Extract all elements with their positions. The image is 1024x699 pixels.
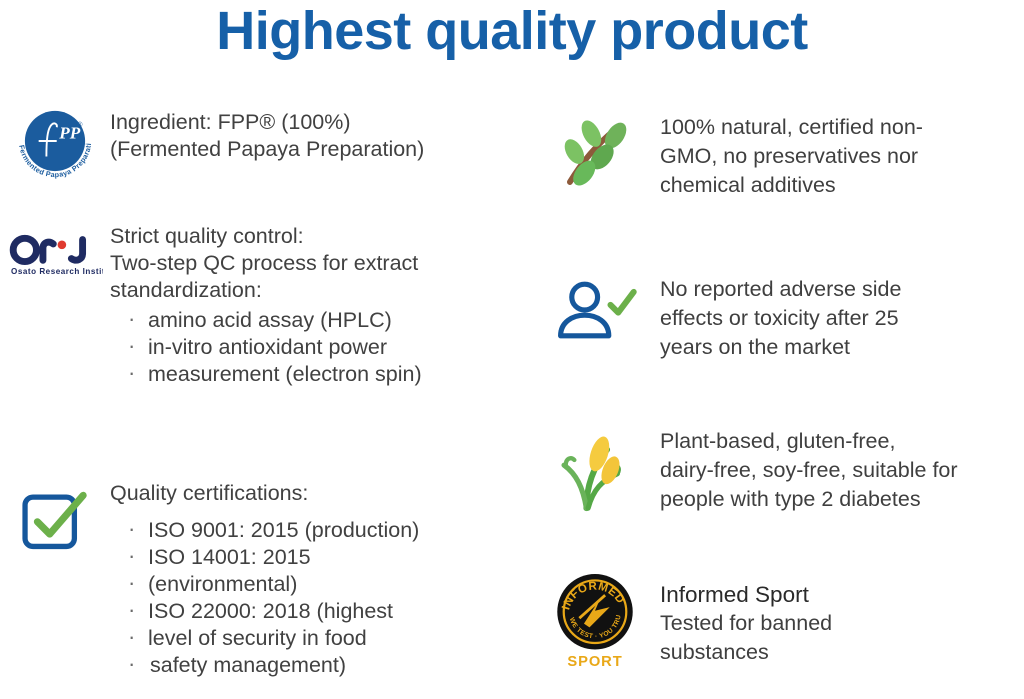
cert-bullet-continuation: (environmental) (122, 571, 530, 598)
ingredient-line-1: Ingredient: FPP® (100%) (110, 109, 530, 136)
wheat-grain-glyph (552, 431, 638, 513)
cert-bullet-item: ISO 14001: 2015 (122, 544, 530, 571)
safety-line-3: years on the market (660, 333, 901, 362)
spacer (110, 507, 530, 517)
feature-row-diet: Plant-based, gluten-free, dairy-free, so… (530, 425, 1024, 514)
checkbox-check-icon (0, 480, 110, 552)
feature-row-natural: 100% natural, certified non- GMO, no pre… (530, 101, 1024, 200)
qc-bullet-list: amino acid assay (HPLC) in-vitro antioxi… (110, 307, 530, 388)
natural-line-2: GMO, no preservatives nor (660, 142, 923, 171)
qc-bullet-item: in-vitro antioxidant power (122, 334, 530, 361)
informed-sport-line-2: substances (660, 638, 832, 667)
informed-sport-footer: SPORT (567, 654, 622, 670)
right-column: 100% natural, certified non- GMO, no pre… (530, 95, 1024, 699)
natural-line-3: chemical additives (660, 171, 923, 200)
wheat-grain-icon (530, 425, 660, 513)
safety-line-1: No reported adverse side (660, 275, 901, 304)
qc-bullet-item: amino acid assay (HPLC) (122, 307, 530, 334)
informed-sport-text: Informed Sport Tested for banned substan… (660, 570, 832, 667)
natural-text: 100% natural, certified non- GMO, no pre… (660, 101, 923, 200)
checkbox-check-glyph (18, 488, 92, 552)
cert-bullet-item: ISO 9001: 2015 (production) (122, 517, 530, 544)
safety-text: No reported adverse side effects or toxi… (660, 271, 901, 362)
safety-line-2: effects or toxicity after 25 (660, 304, 901, 333)
informed-sport-heading: Informed Sport (660, 580, 832, 609)
cert-bullet-list: ISO 9001: 2015 (production) ISO 14001: 2… (110, 517, 530, 679)
ingredient-line-2: (Fermented Papaya Preparation) (110, 136, 530, 163)
diet-line-3: people with type 2 diabetes (660, 485, 958, 514)
person-check-icon (530, 271, 660, 341)
feature-row-ingredient: PP ® Fermented Papaya Preparation Ingred… (0, 95, 530, 184)
leaf-branch-glyph (549, 105, 641, 191)
page-title: Highest quality product (0, 0, 1024, 64)
osato-logo-icon: Osato Research Institute (7, 231, 103, 281)
qc-bullet-continuation: measurement (electron spin) (122, 361, 530, 388)
cert-bullet-continuation: level of security in food (122, 625, 530, 652)
ingredient-text: Ingredient: FPP® (100%) (Fermented Papay… (110, 95, 530, 163)
left-column: PP ® Fermented Papaya Preparation Ingred… (0, 95, 530, 699)
osato-caption: Osato Research Institute (11, 267, 103, 276)
diet-line-2: dairy-free, soy-free, suitable for (660, 456, 958, 485)
feature-row-safety: No reported adverse side effects or toxi… (530, 271, 1024, 362)
informed-sport-glyph: INFORMED WE TEST · YOU TRUST SPORT (549, 570, 641, 670)
informed-sport-badge: INFORMED WE TEST · YOU TRUST SPORT (530, 570, 660, 670)
feature-row-certifications: Quality certifications: ISO 9001: 2015 (… (0, 480, 530, 679)
qc-line-1: Strict quality control: (110, 223, 530, 250)
fpp-seal-logo: PP ® Fermented Papaya Preparation (0, 95, 110, 184)
cert-heading: Quality certifications: (110, 480, 530, 507)
diet-text: Plant-based, gluten-free, dairy-free, so… (660, 425, 958, 514)
cert-bullet-continuation: safety management) (122, 652, 530, 679)
svg-text:®: ® (77, 121, 82, 129)
qc-line-2: Two-step QC process for extract (110, 250, 530, 277)
person-check-glyph (552, 279, 638, 341)
fpp-seal-icon: PP ® Fermented Papaya Preparation (12, 98, 98, 184)
natural-line-1: 100% natural, certified non- (660, 113, 923, 142)
osato-research-institute-logo: Osato Research Institute (0, 223, 110, 281)
cert-bullet-item: ISO 22000: 2018 (highest (122, 598, 530, 625)
leaf-branch-icon (530, 101, 660, 191)
certifications-text: Quality certifications: ISO 9001: 2015 (… (110, 480, 530, 679)
feature-row-quality-control: Osato Research Institute Strict quality … (0, 223, 530, 388)
qc-line-3: standardization: (110, 277, 530, 304)
informed-sport-line-1: Tested for banned (660, 609, 832, 638)
feature-row-informed-sport: INFORMED WE TEST · YOU TRUST SPORT Infor… (530, 570, 1024, 670)
diet-line-1: Plant-based, gluten-free, (660, 427, 958, 456)
quality-control-text: Strict quality control: Two-step QC proc… (110, 223, 530, 388)
